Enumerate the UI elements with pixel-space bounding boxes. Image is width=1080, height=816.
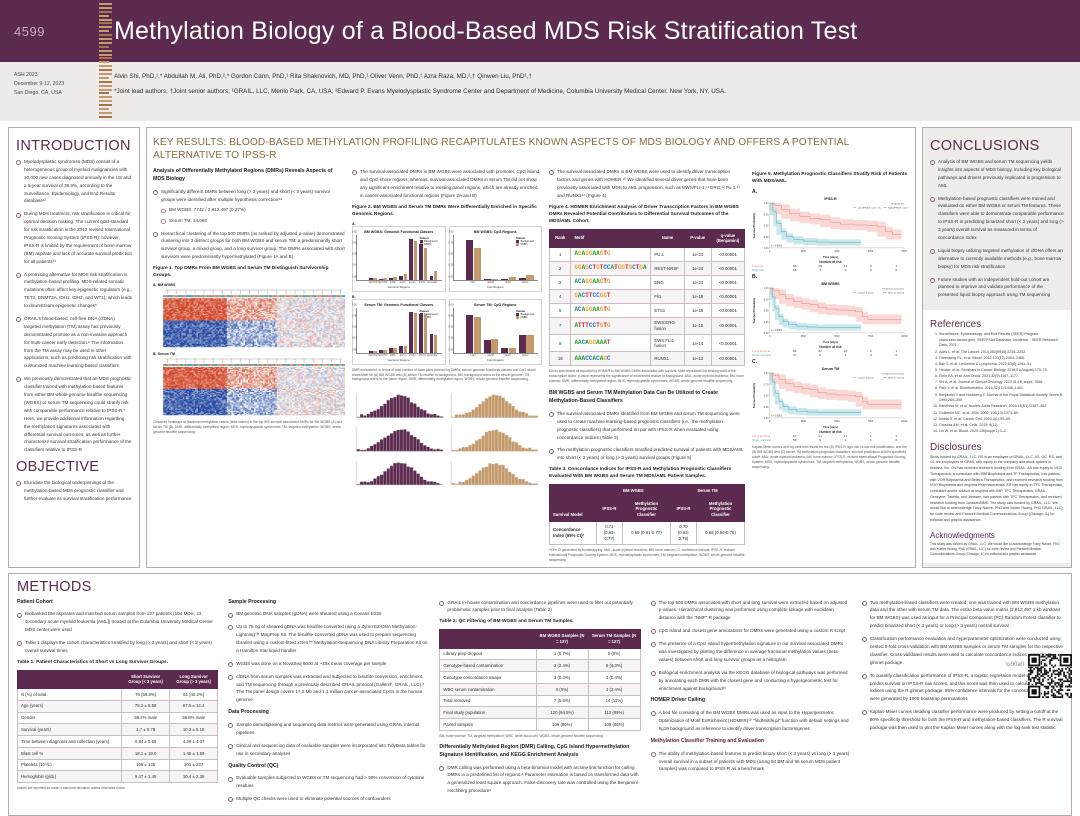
- reference-item: Liu W, et al. Blood. 2020;136(suppl 1):1…: [939, 429, 1064, 435]
- svg-text:1.00: 1.00: [764, 202, 769, 205]
- col-pvalue: P-value: [684, 229, 711, 247]
- methods-column-1: Patient Cohort Biobanked BM aspirates an…: [17, 599, 218, 809]
- chart-bar: [519, 335, 526, 352]
- chart-bar-group: [483, 310, 499, 353]
- chart-bar-group: [518, 310, 534, 353]
- table-row: Paired samples109 (86%)109 (86%): [440, 719, 640, 731]
- table2-caption: Table 2: QC Filtering of BM WGBS and Ser…: [439, 619, 640, 626]
- cell-rank: 5: [550, 303, 571, 317]
- cell-qvalue: <0.00001: [711, 352, 744, 366]
- objective-heading: OBJECTIVE: [16, 459, 132, 475]
- svg-text:p < 0.0001: p < 0.0001: [771, 329, 782, 332]
- risk-value: 0: [884, 353, 909, 357]
- chart-bar-group: [379, 310, 387, 353]
- risk-value: 1: [833, 353, 858, 357]
- reference-item: Kanehisa M, et al. Nucleic Acids Researc…: [939, 404, 1064, 410]
- list-item: Significantly different DMRs between lon…: [153, 188, 345, 225]
- classifier-training-subheading: Methylation Classifier Training and Eval…: [651, 738, 852, 746]
- list-item: Multiple QC checks were used to eliminat…: [228, 795, 429, 803]
- qc-filter-bullets: GRAIL in-house contamination and concord…: [439, 599, 640, 615]
- homer-table: Rank Motif Name P-value q-value (Benjami…: [549, 229, 745, 367]
- figure2-bullets: The survival-associated DMRs in BM WGBS …: [352, 168, 542, 200]
- objective-bullets: Elucidate the biological underpinnings o…: [16, 479, 132, 503]
- cell-pvalue: 1e-19: [684, 289, 711, 303]
- references-list: Surveillance, Epidemiology, and End Resu…: [930, 332, 1064, 434]
- cell-label: Time between diagnosis and collection (y…: [18, 736, 122, 748]
- references-heading: References: [930, 319, 1064, 330]
- cell-motif: GACTTCCGGT: [571, 289, 651, 303]
- km-chart-bm-wgbs: BM WGBS0.000.250.500.751.000250050007500…: [752, 280, 909, 344]
- chart-bar-group: [501, 310, 517, 353]
- methods-heading: METHODS: [17, 579, 1063, 595]
- table-header-row: BM WGBS Samples (N = 127) Serum TM Sampl…: [440, 630, 640, 648]
- meeting-name: ASH 2023: [14, 71, 96, 80]
- cell-name: REST-NRSF: [651, 261, 684, 275]
- cell-label: Hemoglobin (g/dL): [18, 771, 122, 783]
- svg-text:p < 0.0001: p < 0.0001: [771, 414, 782, 417]
- list-item: Evaluable samples subjected to WGBS or T…: [228, 774, 429, 790]
- cell-value: 201 ± 237: [170, 759, 218, 771]
- figure4-bullets: The survival-associated DMRs in BM WGBS …: [549, 168, 745, 200]
- chart-plot-area: 0.000.250.500.751.00: [453, 235, 539, 281]
- chart-y-ticks: 0.000.130.250.380.50: [347, 308, 358, 353]
- chart-bar: [519, 278, 526, 279]
- chart-bar: [419, 244, 423, 280]
- cell-value: 51 (40.2%): [170, 689, 218, 701]
- chart-bar: [404, 274, 408, 279]
- chart-bar-group: [369, 310, 377, 353]
- svg-text:Short (< 3 years): Short (< 3 years): [888, 291, 904, 294]
- chart-svg: IPSS-R0.000.250.500.751.0002000400060008…: [752, 195, 909, 259]
- risk-value: 0: [884, 438, 909, 442]
- table-row: Survival (years)1.7 ± 0.7810.3 ± 5.18: [18, 724, 218, 736]
- list-item: The survival-associated DMRs in BM WGBS …: [352, 168, 542, 200]
- risk-label: High risk: [752, 268, 782, 272]
- list-item: Sample demultiplexing and sequencing dat…: [228, 721, 429, 737]
- chart-fig2b-cpg: Serum TM: CpG RegionsDatasetBackgroundDM…: [449, 299, 543, 365]
- cell-name: ETS1: [651, 303, 684, 317]
- list-item: A bed file consisting of the BM WGBS DMR…: [651, 709, 852, 733]
- cell-value: 0.68 (0.60-0.76): [697, 521, 745, 544]
- chart-bar: [419, 314, 423, 353]
- homer-subheading: HOMER Driver Calling: [651, 697, 852, 705]
- figure5-footnote: Kaplan-Meier curves and log-rank test re…: [752, 445, 909, 470]
- table-row: Concordance Index (95% CI)* 0.71 (0.63-0…: [550, 521, 745, 544]
- meeting-info: ASH 2023 December 9-12, 2023 San Diego, …: [0, 71, 96, 98]
- cell-name: ERG: [651, 275, 684, 289]
- cell-name: EWS:FLI1-fusion: [651, 335, 684, 352]
- chart-bar: [466, 315, 473, 352]
- chart-bar: [369, 351, 373, 353]
- group-serum-tm: Serum TM: [670, 485, 744, 498]
- chart-svg: BM WGBS0.000.250.500.751.000250050007500…: [752, 280, 909, 344]
- svg-text:0: 0: [769, 335, 771, 338]
- table-row: 1AGAGGAAGTGPU.11e-24<0.00001: [550, 247, 745, 261]
- svg-text:1.00: 1.00: [764, 287, 769, 290]
- svg-text:5000: 5000: [834, 420, 840, 423]
- list-item: We previously demonstrated that an MDS p…: [16, 375, 132, 454]
- reference-item: Ishida D, et al. Cancer Cell. 2003;4(1):…: [939, 417, 1064, 423]
- qc-table-body: Library prep dropout1 (0.7%)0 (0%)Genoty…: [440, 648, 640, 730]
- risk-value: 59: [782, 438, 807, 442]
- qc-filtering-table: BM WGBS Samples (N = 127) Serum TM Sampl…: [439, 629, 640, 731]
- cell-label: WBC serum contamination: [440, 683, 536, 695]
- cell-value: 76 (59.8%): [122, 689, 170, 701]
- risk-row: Short survival375100: [752, 353, 909, 357]
- km-chart-serum-tm: Serum TM0.000.250.500.751.00025005000750…: [752, 365, 909, 429]
- cell-pvalue: 1e-24: [684, 275, 711, 289]
- risk-value: 37: [782, 353, 807, 357]
- cell-value: 56.8% male: [170, 712, 218, 724]
- reference-item: Park Y, et al. Bioinformatics. 2016;32(1…: [939, 386, 1064, 392]
- data-processing-bullets: Sample demultiplexing and sequencing dat…: [228, 721, 429, 758]
- figure1-caption: Figure 1. Top DMRs From BM WGBS and Seru…: [153, 266, 345, 280]
- cell-name: EWS:ERG-fusion: [651, 317, 684, 334]
- cell-value: 1.7 ± 0.78: [122, 724, 170, 736]
- table1-caption: Table 1: Patient Characteristics of Shor…: [17, 660, 218, 667]
- cell-value: 0 (0%): [536, 683, 588, 695]
- chart-bar: [501, 279, 508, 280]
- key-results-column-1: Analysis of Differentially Methylated Re…: [153, 168, 345, 562]
- chart-y-ticks: 0.000.250.500.751.00: [444, 235, 455, 280]
- svg-text:High (IPSS-R score > 3): High (IPSS-R score > 3): [888, 206, 909, 209]
- cell-motif: AACAGGAAAT: [571, 335, 651, 352]
- risk-value: 1: [858, 438, 883, 442]
- cell-value: 4.26 ± 4.07: [170, 736, 218, 748]
- list-item: The presence of a CpG island hypermethyl…: [651, 640, 852, 664]
- col-ipssr-bm: IPSS-R: [596, 497, 622, 521]
- chart-bar-group: [466, 310, 482, 353]
- cell-value: 10.3 ± 5.18: [170, 724, 218, 736]
- disclosures-body: Study funded by GRAIL, LLC. RS is an emp…: [930, 455, 1064, 524]
- chart-bar: [379, 279, 383, 280]
- cell-label: Library prep dropout: [440, 648, 536, 660]
- svg-text:0: 0: [769, 420, 771, 423]
- reference-item: Shi A, et al. Journal of Clinical Oncolo…: [939, 380, 1064, 386]
- col-meth-tm: Methylation Prognostic Classifier: [697, 497, 745, 521]
- chart-bar: [399, 276, 403, 280]
- homer-table-body: 1AGAGGAAGTGPU.11e-24<0.000012GGAGCTGTCCA…: [550, 247, 745, 366]
- cell-rank: 4: [550, 289, 571, 303]
- col-long-survivor: Long Survivor Group (> 3 years): [170, 670, 218, 688]
- chart-bar-group: [518, 237, 534, 280]
- list-item: Serum TM: 14,093: [161, 217, 345, 225]
- acknowledgments-body: This study was funded by GRAIL, LLC. We …: [930, 542, 1064, 557]
- methods-column-5: Two methylation-based classifiers were c…: [862, 599, 1063, 809]
- list-item: Table 1 displays the cohort characterist…: [17, 639, 218, 655]
- dmr-subheading: Analysis of Differentially Methylated Re…: [153, 168, 345, 184]
- cell-qvalue: <0.00001: [711, 303, 744, 317]
- patient-table-body: N (%) of total76 (59.8%)51 (40.2%)Age (y…: [18, 689, 218, 783]
- chart-bar: [434, 271, 438, 280]
- table2-footnote: BM, bone marrow; TM, targeted methylatio…: [439, 734, 640, 739]
- table-row: Platelets (10⁹/L)105 ± 145201 ± 237: [18, 759, 218, 771]
- reference-item: Gruszka AM, et al. Cells. 2019; 8(11).: [939, 423, 1064, 429]
- chart-bar-group: [389, 237, 397, 280]
- list-item: The methylation prognostic classifiers s…: [549, 446, 745, 462]
- chart-bar: [369, 278, 373, 280]
- risk-table-serum-tm: Number at riskLong survival67211111Short…: [752, 430, 909, 442]
- list-item: DMR calling was performed using a beta-b…: [439, 764, 640, 796]
- table-row: 2GGAGCTGTCCATGGTGCTGAREST-NRSF1e-24<0.00…: [550, 261, 745, 275]
- chart-x-ticks: 3prUTR5prUTRCDSexonintronintronpromoter: [356, 354, 442, 357]
- sample-processing-subheading: Sample Processing: [228, 599, 429, 607]
- chart-bar-group: [369, 237, 377, 280]
- chart-bar: [393, 348, 397, 352]
- cell-name: PU.1: [651, 247, 684, 261]
- chart-svg: Serum TM0.000.250.500.751.00025005000750…: [752, 365, 909, 429]
- figure2-caption: Figure 2. BM WGBS and Serum TM DMRs Were…: [352, 205, 542, 219]
- table3-footnote: *95% CI generated by bootstrapping. AML,…: [549, 548, 745, 563]
- key-results-title: KEY RESULTS: BLOOD-BASED METHYLATION PRO…: [153, 136, 909, 162]
- cell-label: Survival (years): [18, 724, 122, 736]
- cell-pvalue: 1e-24: [684, 247, 711, 261]
- cell-value: 0.84 ± 0.65: [122, 736, 170, 748]
- patient-cohort-bullets: Biobanked BM aspirates and matched serum…: [17, 610, 218, 654]
- cell-value: 59.2% male: [122, 712, 170, 724]
- figure4-footnote: Driver enrichment as reported by HOMER i…: [549, 369, 745, 384]
- reference-item: Greenberg PL, et al. Blood. 2012;120(12)…: [939, 356, 1064, 362]
- risk-value: 9: [807, 438, 832, 442]
- chart-x-label: CpG Regions: [453, 358, 539, 362]
- cell-pvalue: 1e-13: [684, 352, 711, 366]
- cell-pvalue: 1e-14: [684, 335, 711, 352]
- svg-text:0: 0: [769, 250, 771, 253]
- cell-rank: 2: [550, 261, 571, 275]
- cell-value: 0.70 (0.63-0.76): [670, 521, 696, 544]
- list-item: Methylation-based prognostic classifiers…: [930, 195, 1064, 242]
- col-bm-wgbs-samples: BM WGBS Samples (N = 127): [536, 630, 588, 648]
- methods-column-4: The top 500 DMRs associated with short a…: [651, 599, 852, 809]
- table-row: Age (years)75.2 ± 8.5867.5 ± 14.4: [18, 700, 218, 712]
- svg-text:Time (days): Time (days): [823, 340, 838, 344]
- chart-bar: [373, 278, 377, 280]
- chart-bar: [526, 335, 533, 353]
- chart-title: Serum TM: CpG Regions: [453, 303, 539, 307]
- cell-value: 0.69 (0.61-0.77): [622, 521, 670, 544]
- cell-rank: 18: [550, 352, 571, 366]
- cell-name: Fli1: [651, 289, 684, 303]
- cell-value: 3 (0.4%): [536, 672, 588, 684]
- cell-motif: ACAGGAAGTG: [571, 303, 651, 317]
- cell-label: Platelets (10⁹/L): [18, 759, 122, 771]
- cell-value: 14 (11%): [588, 695, 640, 707]
- chart-bar: [509, 348, 516, 352]
- homer-bullets: A bed file consisting of the BM WGBS DMR…: [651, 709, 852, 733]
- introduction-heading: INTRODUCTION: [16, 138, 132, 154]
- cell-pvalue: 1e-19: [684, 303, 711, 317]
- cell-value: 10.4 ± 2.36: [170, 771, 218, 783]
- cell-value: 113 (89%): [588, 707, 640, 719]
- cell-name: RUNX1: [651, 352, 684, 366]
- list-item: During MDS treatment, risk stratificatio…: [16, 210, 132, 265]
- group-bm-wgbs: BM WGBS: [596, 485, 670, 498]
- chart-bar-group: [429, 310, 437, 353]
- left-column: INTRODUCTION Myelodysplastic syndromes (…: [8, 127, 140, 568]
- chart-x-label: Genomic Regions: [356, 358, 442, 362]
- table-row: Blast cell %18.1 ± 19.01.45 ± 1.59: [18, 747, 218, 759]
- table-row: Time between diagnosis and collection (y…: [18, 736, 218, 748]
- chart-bar-group: [409, 237, 417, 280]
- svg-text:7500: 7500: [868, 335, 874, 338]
- key-results-column-3: The survival-associated DMRs in BM WGBS …: [549, 168, 745, 562]
- svg-text:Serum TM: Serum TM: [822, 367, 840, 371]
- col-survival-model: Survival Model: [550, 485, 597, 522]
- list-item: CpG island and closest gene annotations …: [651, 627, 852, 635]
- svg-text:Survival Probability: Survival Probability: [752, 297, 756, 323]
- chart-bar: [409, 239, 413, 280]
- list-item: GRAIL in-house contamination and concord…: [439, 599, 640, 615]
- risk-row: High risk683000: [752, 268, 909, 272]
- conclusions-bullets: Analysis of BM WGBS and serum TM sequenc…: [930, 158, 1064, 299]
- svg-text:4000: 4000: [834, 250, 840, 253]
- risk-value: 0: [858, 268, 883, 272]
- chart-bar-group: [483, 237, 499, 280]
- dmr-sublist: BM WGBS: 7742 / 2,812,497 (0.27%) Serum …: [161, 206, 345, 224]
- chart-plot-area: 0.000.130.250.380.50: [356, 308, 442, 354]
- svg-text:Survival Probability: Survival Probability: [752, 212, 756, 238]
- list-item: Up to 75 ng of sheared gDNA was bisulfit…: [228, 623, 429, 655]
- acknowledgments-heading: Acknowledgments: [930, 531, 1064, 540]
- data-processing-subheading: Data Processing: [228, 709, 429, 717]
- methods-section: METHODS Patient Cohort Biobanked BM aspi…: [8, 573, 1072, 816]
- chart-bar: [383, 278, 387, 280]
- list-item: Myelodysplastic syndromes (MDS) consist …: [16, 158, 132, 205]
- chart-bar: [393, 277, 397, 279]
- svg-text:2500: 2500: [801, 420, 807, 423]
- chart-bar-group: [466, 237, 482, 280]
- chart-bar-group: [501, 237, 517, 280]
- chart-bar: [434, 335, 438, 353]
- risk-label: Short survival: [752, 353, 782, 357]
- table-row: N (%) of total76 (59.8%)51 (40.2%): [18, 689, 218, 701]
- cell-rank: 7: [550, 317, 571, 334]
- patient-characteristics-table: Short Survivor Group (< 3 years) Long Su…: [17, 670, 218, 783]
- chart-bar-group: [429, 237, 437, 280]
- chart-bar-group: [419, 237, 427, 280]
- watermark: \u00a0: [1006, 662, 1024, 668]
- cell-rank: 1: [550, 247, 571, 261]
- table-row: 9AACAGGAAATEWS:FLI1-fusion1e-14<0.00001: [550, 335, 745, 352]
- svg-text:Predicted survival time: Predicted survival time: [882, 373, 904, 376]
- reference-item: Surveillance, Epidemiology, and End Resu…: [939, 332, 1064, 349]
- list-item: cfDNA from serum samples was extracted a…: [228, 673, 429, 705]
- table-row: Genotype concordance swaps3 (0.4%)3 (0.4…: [440, 672, 640, 684]
- cell-value: 75.2 ± 8.58: [122, 700, 170, 712]
- risk-value: 5: [807, 353, 832, 357]
- chart-bar: [526, 275, 533, 279]
- cell-qvalue: <0.00001: [711, 275, 744, 289]
- chart-bar: [484, 340, 491, 353]
- col-characteristic: [18, 670, 122, 688]
- svg-text:Time (days): Time (days): [823, 255, 838, 259]
- poster-number: 4599: [0, 24, 96, 39]
- cell-rank: 3: [550, 275, 571, 289]
- qc-bullets: Evaluable samples subjected to WGBS or T…: [228, 774, 429, 803]
- list-item: Analysis of BM WGBS and serum TM sequenc…: [930, 158, 1064, 190]
- svg-text:0.25: 0.25: [764, 236, 769, 239]
- chart-plot-area: 0.000.150.300.450.60: [453, 308, 539, 354]
- chart-x-ticks: 3prUTR5prUTRCDSexonintronintronpromoter: [356, 281, 442, 284]
- svg-text:Time (days): Time (days): [823, 425, 838, 429]
- list-item: WGBS was done on a NovaSeq 6000 at ~30x …: [228, 660, 429, 668]
- list-item: Two methylation-based classifiers were c…: [862, 599, 1063, 631]
- chart-bar-group: [419, 310, 427, 353]
- risk-table-bm-wgbs: Number at riskLong survival84221021Short…: [752, 345, 909, 357]
- col-rank: Rank: [550, 229, 571, 247]
- table-row: 18AAACCACAGCRUNX11e-13<0.00001: [550, 352, 745, 366]
- poster-body: INTRODUCTION Myelodysplastic syndromes (…: [0, 121, 1080, 568]
- figure5-caption: Figure 5. Methylation Prognostic Classif…: [752, 172, 909, 186]
- author-block: Alvin Shi, PhD,¹,* Abdullah M. Ali, PhD,…: [96, 71, 726, 99]
- chart-bar: [474, 317, 481, 353]
- chart-bar: [424, 315, 428, 353]
- cell-qvalue: <0.00001: [711, 289, 744, 303]
- qr-code[interactable]: [1028, 654, 1072, 698]
- chart-bar-group: [409, 310, 417, 353]
- risk-table-ipssr: Number at riskLow risk83251231High risk6…: [752, 260, 909, 272]
- svg-text:7500: 7500: [868, 420, 874, 423]
- col-short-survivor: Short Survivor Group (< 3 years): [122, 670, 170, 688]
- svg-text:BM WGBS: BM WGBS: [821, 282, 840, 286]
- table-row: 4GACTTCCGGTFli11e-19<0.00001: [550, 289, 745, 303]
- risk-value: 3: [807, 268, 832, 272]
- key-results-panel: KEY RESULTS: BLOOD-BASED METHYLATION PRO…: [146, 127, 916, 568]
- patient-cohort-subheading: Patient Cohort: [17, 599, 218, 607]
- table-row: Hemoglobin (g/dL)9.47 ± 1.4510.4 ± 2.36: [18, 771, 218, 783]
- cell-qvalue: <0.00001: [711, 261, 744, 275]
- table-row: Genotype-based contamination3 (2.4%)8 (6…: [440, 660, 640, 672]
- table-header-row: Rank Motif Name P-value q-value (Benjami…: [550, 229, 745, 247]
- key-results-column-2: The survival-associated DMRs in BM WGBS …: [352, 168, 542, 562]
- list-item-text: Significantly different DMRs between lon…: [161, 189, 330, 202]
- chart-plot-area: 0.000.140.280.410.55: [356, 235, 442, 281]
- risk-value: 0: [858, 353, 883, 357]
- svg-text:Survival Probability: Survival Probability: [752, 382, 756, 408]
- chart-title: BM WGBS: CpG Regions: [453, 230, 539, 234]
- svg-text:6000: 6000: [868, 250, 874, 253]
- chart-bar: [404, 346, 408, 353]
- col-name: Name: [651, 229, 684, 247]
- page-title: Methylation Biology of a Blood-Based MDS…: [96, 17, 857, 46]
- cell-value: 9.47 ± 1.45: [122, 771, 170, 783]
- figure3-placeholder: [352, 388, 542, 488]
- heatmap-bm-wgbs: [153, 288, 345, 349]
- list-item: The ability of methylation-based feature…: [651, 750, 852, 774]
- risk-value: 68: [782, 268, 807, 272]
- list-item: Biological enrichment analysis via the K…: [651, 669, 852, 693]
- list-item: Kaplan-Meier curves detailing classifier…: [862, 708, 1063, 732]
- cell-value: 1.45 ± 1.59: [170, 747, 218, 759]
- risk-value: 0: [833, 268, 858, 272]
- table-row: 5ACAGGAAGTGETS11e-19<0.00001: [550, 303, 745, 317]
- chart-title: Serum TM: Genomic Functional Classes: [356, 303, 442, 307]
- cell-label: Final study population: [440, 707, 536, 719]
- svg-text:Long (> 3 years): Long (> 3 years): [858, 291, 874, 294]
- list-item: The top 500 DMRs associated with short a…: [651, 599, 852, 623]
- cell-pvalue: 1e-15: [684, 317, 711, 334]
- chart-bar: [414, 313, 418, 353]
- cell-value: 109 (86%): [588, 719, 640, 731]
- cell-value: 7 (5.5%): [536, 695, 588, 707]
- reference-item: Benjamini Y and Hochberg Y. Journal of t…: [939, 393, 1064, 404]
- cell-motif: ACAGGAAGTG: [571, 275, 651, 289]
- key-results-column-4: Figure 5. Methylation Prognostic Classif…: [752, 168, 909, 562]
- cell-value: 3 (0.4%): [588, 672, 640, 684]
- cell-value: 3 (2.4%): [536, 660, 588, 672]
- chart-bar: [389, 348, 393, 352]
- chart-bar: [373, 351, 377, 353]
